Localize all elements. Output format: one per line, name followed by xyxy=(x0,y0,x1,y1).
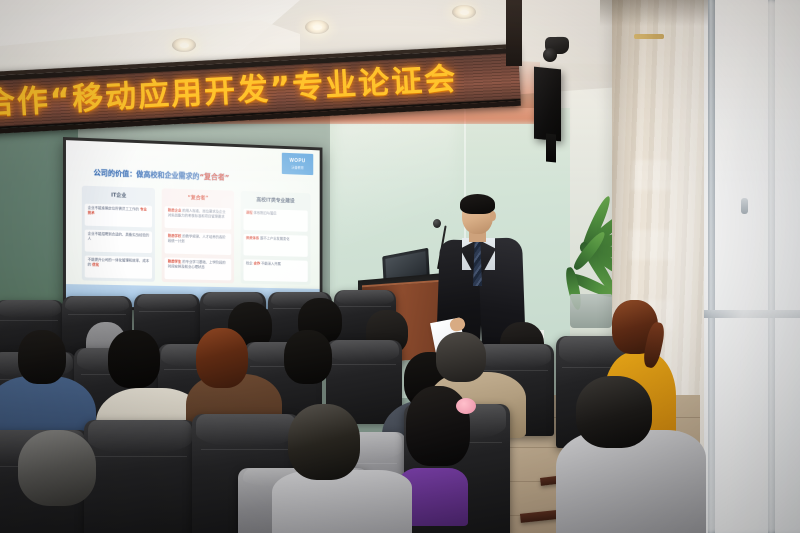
audience-head xyxy=(288,404,360,480)
led-banner-bezel xyxy=(506,0,522,66)
pink-hair-accessory xyxy=(456,398,476,414)
audience-head xyxy=(436,332,486,382)
slide-box-text: 跟不上产业发展变化 xyxy=(260,236,289,241)
ceiling-downlight xyxy=(305,20,329,34)
slide-box-highlight: 课程 xyxy=(246,211,253,215)
slide-title-prefix: 公司的价值：做高校和企业需求的 xyxy=(94,168,200,181)
slide-box-text: 校企 xyxy=(246,261,253,265)
conference-room-photo: 合作“移动应用开发”专业论证会 WOPU 沃普教育 公司的价值：做高校和企业需求… xyxy=(0,0,800,533)
slide-column-head: 高校IT类专业建设 xyxy=(243,195,308,207)
audience-head xyxy=(576,376,652,448)
window-glare xyxy=(700,0,800,533)
curtain-rod-shadow xyxy=(600,0,708,26)
audience-head xyxy=(108,330,160,388)
slide-logo-line1: WOPU xyxy=(289,158,305,164)
curtain-tieback[interactable] xyxy=(634,34,664,39)
slide-column-head: IT企业 xyxy=(85,190,153,202)
slide-box: 课程 体系陈旧与落后 xyxy=(243,208,308,232)
security-camera-lens xyxy=(543,48,557,62)
conference-chair[interactable] xyxy=(84,420,196,533)
slide-box: 熟悉学生 的专业学习基础、上学阶段的时间安排及就业心理状态 xyxy=(165,257,231,281)
slide-columns: IT企业 企业不能准确定位所需员工工作的 专业技术 企业不能招聘到合适的、具备实… xyxy=(82,186,311,285)
slide-column: “复合者” 熟悉企业 的用人标准、岗位要求及企业对实战能力的考核标准和项目管理要… xyxy=(162,188,234,283)
wall-speaker-bracket xyxy=(546,133,556,162)
slide-box: 不能提升公司的一体化管理和效率、成本的 优化 xyxy=(85,255,153,279)
audience-head-red-hair xyxy=(196,328,248,388)
slide-box-highlight: 师资体系 xyxy=(246,236,259,240)
audience-head xyxy=(284,330,332,384)
speaker-hair xyxy=(460,194,495,214)
wall-speaker xyxy=(534,67,561,142)
slide-box-text: 企业不能准确定位所需员工工作的 xyxy=(88,206,139,212)
slide-logo: WOPU 沃普教育 xyxy=(282,153,313,175)
slide-box-highlight: 合作 xyxy=(254,261,261,265)
ceiling-downlight xyxy=(452,5,476,19)
slide-column: IT企业 企业不能准确定位所需员工工作的 专业技术 企业不能招聘到合适的、具备实… xyxy=(82,186,155,282)
speaker-ear xyxy=(490,211,496,221)
audience-head xyxy=(18,430,96,506)
plant-pot xyxy=(570,294,612,328)
window-handle[interactable] xyxy=(741,198,748,214)
slide-box: 企业不能招聘到合适的、具备实战经验的人 xyxy=(85,229,153,253)
slide-title-highlight: “复合者” xyxy=(199,172,229,182)
slide-box-highlight: 优化 xyxy=(92,262,99,266)
slide-column-head: “复合者” xyxy=(165,192,231,204)
projection-screen: WOPU 沃普教育 公司的价值：做高校和企业需求的“复合者” IT企业 企业不能… xyxy=(63,137,322,313)
audience-torso-grey xyxy=(272,470,412,533)
slide-box: 企业不能准确定位所需员工工作的 专业技术 xyxy=(85,203,153,227)
slide-box-text: 体系陈旧与落后 xyxy=(254,211,277,216)
ceiling-downlight xyxy=(172,38,196,52)
slide-box-text: 企业不能招聘到合适的、具备实战经验的人 xyxy=(88,232,149,241)
audience-head xyxy=(18,330,66,384)
slide-column: 高校IT类专业建设 课程 体系陈旧与落后 师资体系 跟不上产业发展变化 校企 合… xyxy=(240,191,310,285)
slide-box: 师资体系 跟不上产业发展变化 xyxy=(243,233,308,256)
slide-box: 熟悉企业 的用人标准、岗位要求及企业对实战能力的考核标准和项目管理要求 xyxy=(165,206,231,230)
slide-box: 熟悉学校 的教学规律、人才培养的各阶段统一计划 xyxy=(165,231,231,255)
slide-logo-line2: 沃普教育 xyxy=(291,165,304,170)
slide-box-text: 不能深入开展 xyxy=(261,262,281,266)
slide-title: 公司的价值：做高校和企业需求的“复合者” xyxy=(94,168,230,183)
slide-box: 校企 合作 不能深入开展 xyxy=(243,259,308,282)
presentation-slide: WOPU 沃普教育 公司的价值：做高校和企业需求的“复合者” IT企业 企业不能… xyxy=(66,140,320,310)
